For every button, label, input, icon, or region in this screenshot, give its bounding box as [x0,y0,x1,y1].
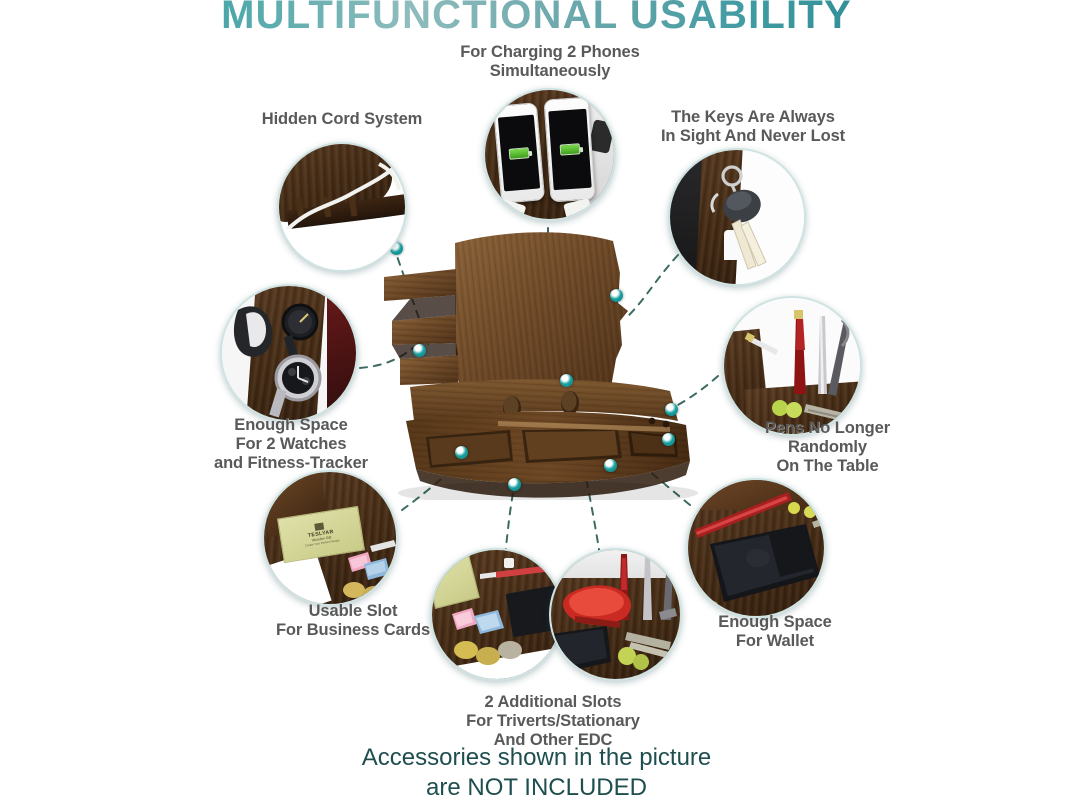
hotspot-edc-left[interactable] [508,478,521,491]
photo-bubble-business-card-slot[interactable]: TESLYAR Wooden Gift Create Your Perfect … [262,470,398,606]
photo-bubble-charging-two-phones[interactable] [483,88,616,221]
product-docking-station [370,225,710,500]
hotspot-phones[interactable] [560,374,573,387]
label-space-for-watches: Enough Space For 2 Watches and Fitness-T… [166,416,416,472]
battery-charging-icon [559,143,580,155]
hotspot-edc-right[interactable] [604,459,617,472]
disclaimer-note: Accessories shown in the picture are NOT… [0,743,1073,802]
hotspot-watches[interactable] [413,344,426,357]
phone-left [492,102,544,203]
hotspot-keys[interactable] [610,289,623,302]
label-keys-always-in-sight: The Keys Are Always In Sight And Never L… [613,108,893,146]
photo-bubble-hidden-cord-system[interactable] [277,142,407,272]
photo-bubble-space-for-watches[interactable] [220,284,358,422]
label-pens-no-longer-random: Pens No Longer Randomly On The Table [705,419,950,475]
page-title: MULTIFUNCTIONAL USABILITY [0,0,1073,36]
photo-bubble-additional-slots-edc-right[interactable] [549,548,682,681]
label-hidden-cord-system: Hidden Cord System [212,110,472,129]
label-charging-two-phones: For Charging 2 Phones Simultaneously [420,43,680,81]
photo-bubble-additional-slots-edc-left[interactable] [430,548,563,681]
hotspot-wallet[interactable] [662,433,675,446]
hotspot-pens[interactable] [665,403,678,416]
label-space-for-wallet: Enough Space For Wallet [660,613,890,651]
phone-right [543,96,595,202]
photo-bubble-pens-no-longer-random[interactable] [722,296,862,436]
photo-bubble-space-for-wallet[interactable] [686,478,826,618]
label-additional-slots-edc: 2 Additional Slots For Triverts/Stationa… [408,693,698,749]
battery-charging-icon [508,147,529,160]
photo-bubble-keys-always-in-sight[interactable] [668,148,806,286]
hotspot-business-cards[interactable] [455,446,468,459]
